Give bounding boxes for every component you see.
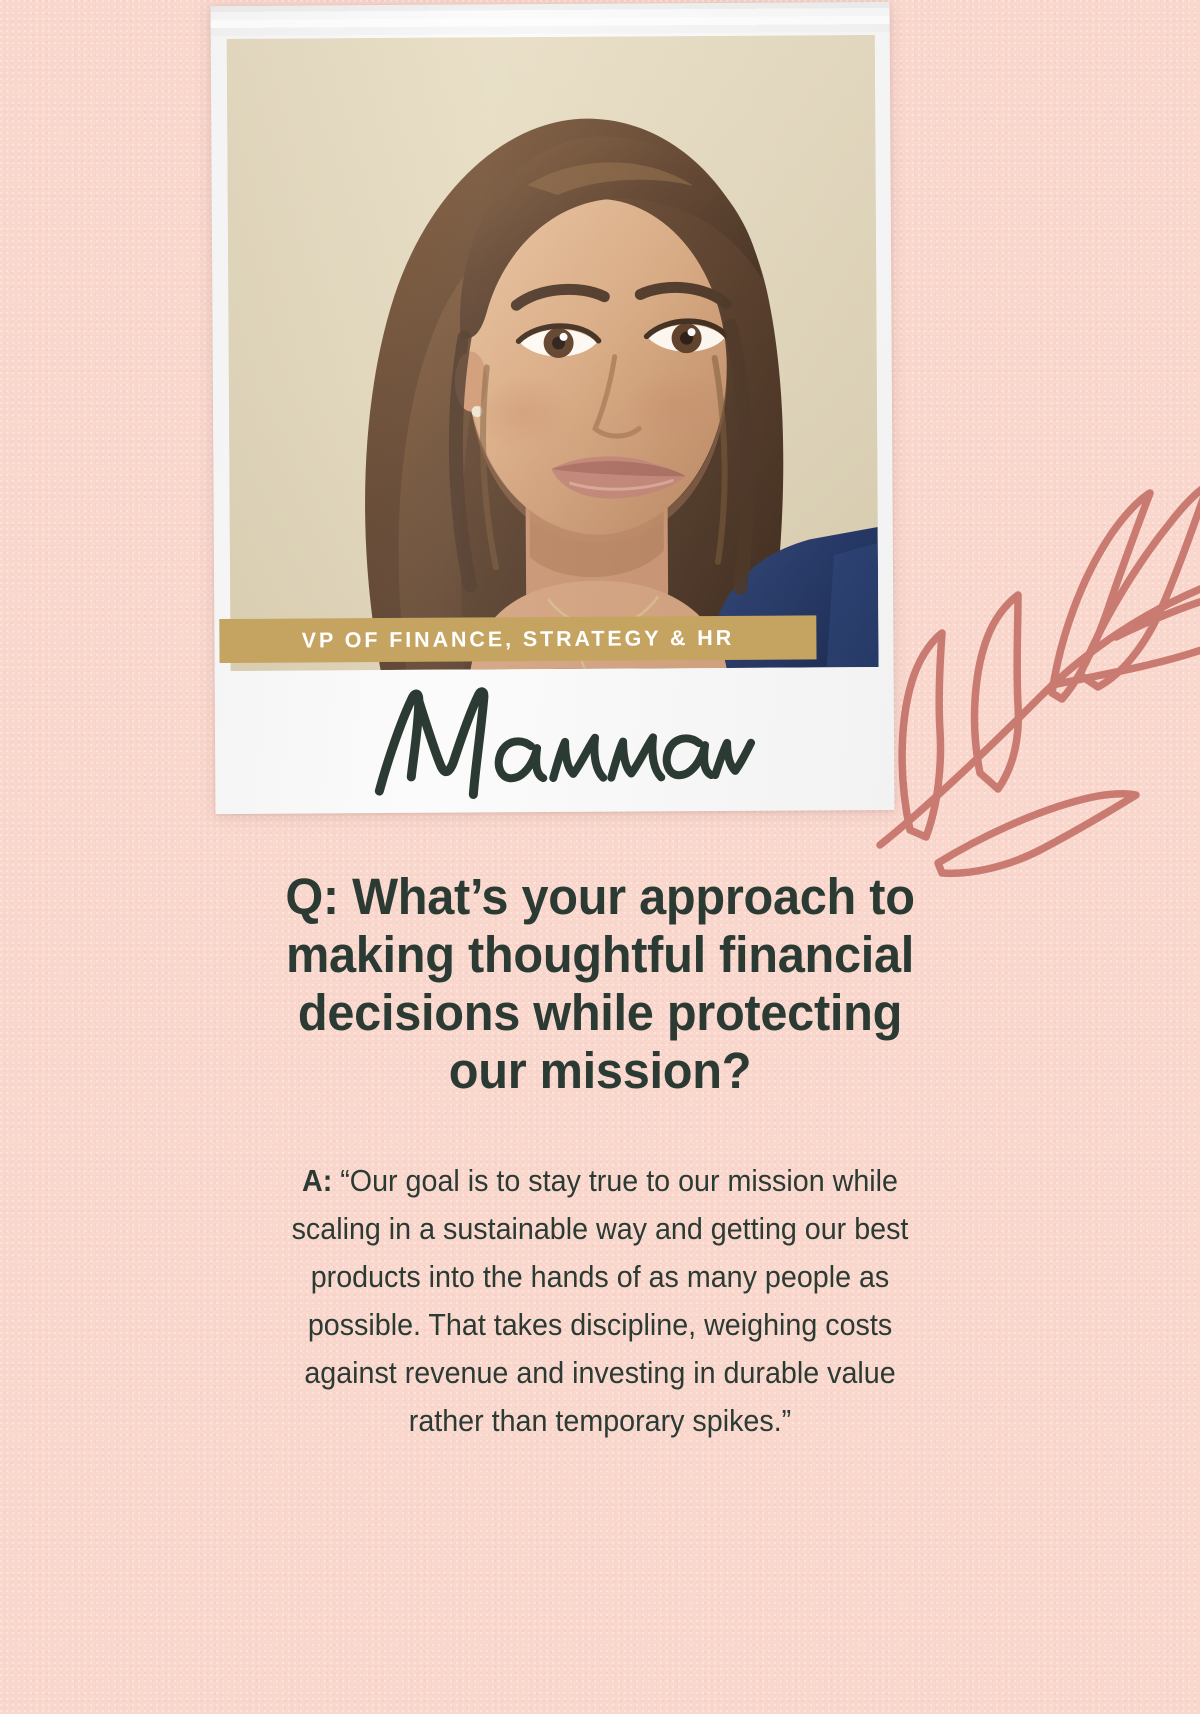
polaroid-photo-card: VP OF FINANCE, STRATEGY & HR [211,2,895,814]
answer-paragraph: A: “Our goal is to stay true to our miss… [186,1157,1013,1446]
employee-spotlight-card: VP OF FINANCE, STRATEGY & HR [0,0,1200,1714]
headline-line: decisions while protecting [208,984,991,1042]
portrait-illustration [227,35,879,671]
answer-line: A: “Our goal is to stay true to our miss… [302,1164,898,1198]
answer-line: products into the hands of as many peopl… [311,1260,890,1294]
answer-line: possible. That takes discipline, weighin… [308,1308,892,1342]
answer-line: scaling in a sustainable way and getting… [292,1212,909,1246]
answer-line: against revenue and investing in durable… [304,1356,895,1390]
headline-line: our mission? [208,1042,991,1100]
headline-line: making thoughtful financial [208,926,991,984]
employee-portrait-photo [227,35,879,671]
signature-script-glyphs [354,681,755,803]
botanical-leaf-branch-icon [870,375,1200,875]
role-title-text: VP OF FINANCE, STRATEGY & HR [302,625,735,653]
headline-line: Q: What’s your approach to [208,868,991,926]
question-headline: Q: What’s your approach to making though… [208,868,991,1101]
signature-name [215,670,895,814]
answer-line: rather than temporary spikes.” [409,1404,791,1438]
qa-text-block: Q: What’s your approach to making though… [0,868,1200,1446]
role-title-band: VP OF FINANCE, STRATEGY & HR [219,615,816,663]
